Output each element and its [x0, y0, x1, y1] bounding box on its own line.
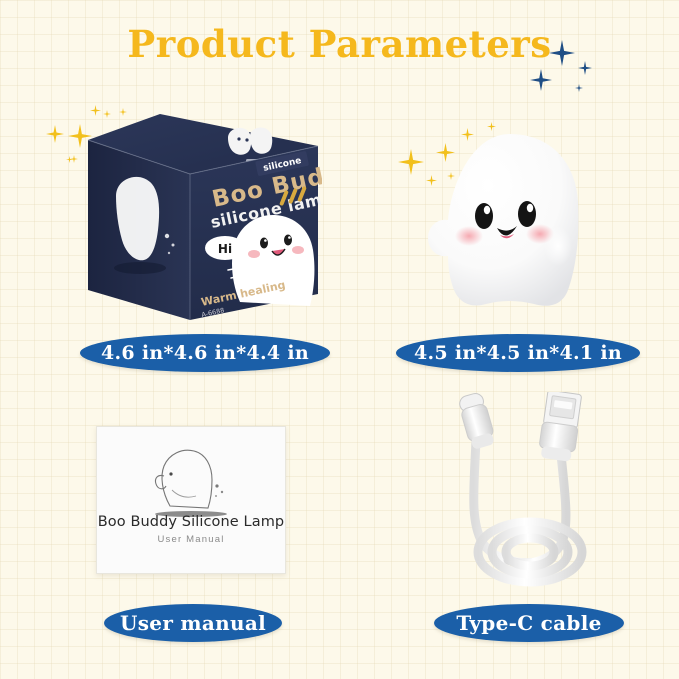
- cable-coil-inner: [506, 538, 554, 566]
- label-user-manual: User manual: [104, 604, 282, 642]
- size-label-lamp: 4.5 in*4.5 in*4.1 in: [396, 334, 640, 372]
- product-box-svg: silicone Boo Buddy silicone lamp Hi: [82, 112, 322, 327]
- manual-ghost-arm: [155, 475, 166, 488]
- box-ghost-eye: [260, 238, 268, 249]
- ghost-lamp-cheek: [455, 226, 483, 246]
- ghost-lamp-eye-glint: [484, 206, 490, 214]
- label-type-c-cable: Type-C cable: [434, 604, 624, 642]
- page-title: Product Parameters: [0, 22, 679, 66]
- box-speech-bubble-label: Hi: [218, 242, 232, 256]
- manual-ghost-eye: [169, 472, 172, 475]
- box-ghost-eye-glint: [264, 239, 267, 242]
- cable-svg: [432, 392, 648, 588]
- ghost-lamp-highlight: [544, 226, 572, 266]
- usb-type-c-connector: [457, 392, 497, 450]
- box-side-dot: [165, 234, 169, 238]
- manual-ghost-outline: [162, 450, 212, 508]
- box-ghost-cheek: [292, 246, 304, 254]
- size-label-box: 4.6 in*4.6 in*4.4 in: [80, 334, 330, 372]
- box-top-logo-eye: [245, 138, 248, 141]
- manual-ghost-detail: [172, 490, 196, 497]
- ghost-lamp-eye: [475, 203, 493, 229]
- ghost-lamp-image: [398, 118, 618, 323]
- box-ghost-eye: [284, 235, 292, 246]
- box-side-dot: [172, 244, 175, 247]
- box-top-logo-eye: [237, 137, 240, 140]
- ghost-lamp-eye-glint: [527, 204, 533, 212]
- manual-cover-subtitle: User Manual: [96, 534, 286, 545]
- ghost-lamp-svg: [398, 118, 618, 323]
- user-manual-image: Boo Buddy Silicone Lamp User Manual: [96, 426, 286, 574]
- product-box-image: silicone Boo Buddy silicone lamp Hi: [82, 112, 322, 327]
- box-ghost-eye-glint: [288, 236, 291, 239]
- box-ghost-cheek: [248, 250, 260, 258]
- ghost-lamp-body: [428, 134, 579, 306]
- manual-cover-title: Boo Buddy Silicone Lamp: [96, 514, 286, 530]
- type-c-cable-image: [432, 392, 648, 588]
- box-side-shadow: [114, 262, 166, 274]
- manual-ghost-sparkle: [221, 491, 223, 493]
- ghost-lamp-eye: [518, 201, 536, 227]
- manual-ghost-sparkle: [215, 484, 218, 487]
- usb-a-connector: [538, 392, 583, 462]
- box-side-dot: [168, 252, 170, 254]
- manual-ghost-sketch: [96, 434, 286, 522]
- manual-ghost-sparkle: [215, 495, 217, 497]
